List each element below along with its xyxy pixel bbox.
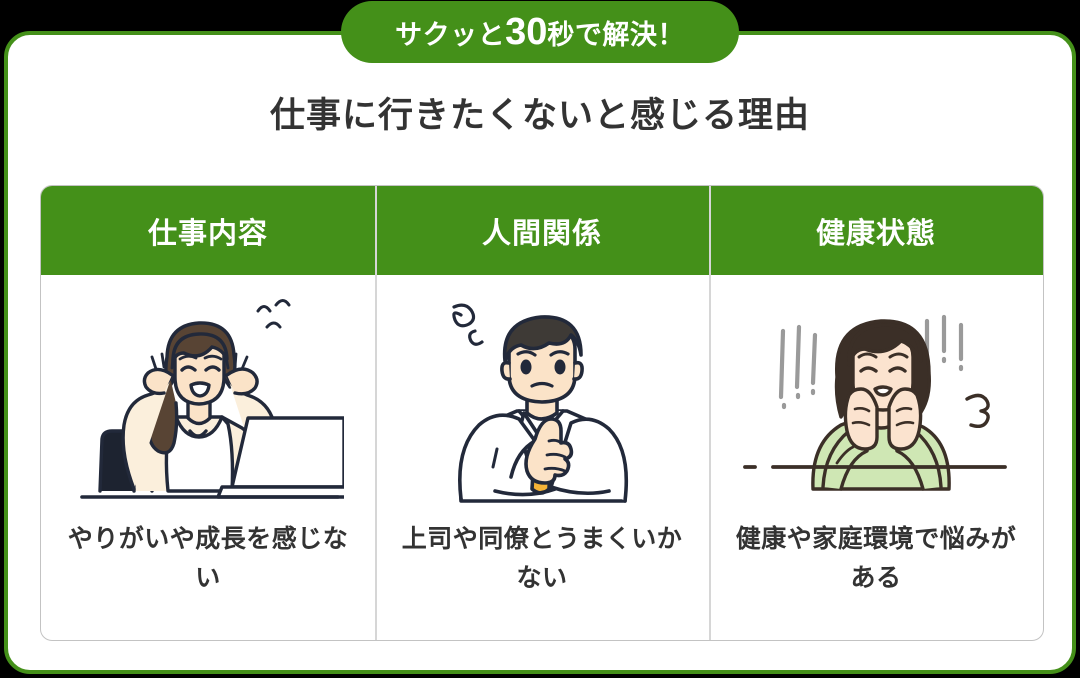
troubled-man-hand-on-chin-illustration: [393, 289, 691, 504]
badge-number: 30: [505, 13, 547, 51]
cell-caption-health: 健康や家庭環境で悩みがある: [731, 520, 1021, 598]
depressed-woman-resting-head-illustration: [727, 289, 1025, 504]
badge-label: サクッと30秒で解決！: [395, 13, 685, 51]
badge-suffix: 秒で解決！: [547, 22, 685, 49]
table-cell-health: 健康や家庭環境で悩みがある: [709, 275, 1043, 640]
table-cell-work-content: やりがいや成長を感じない: [41, 275, 375, 640]
table-header-cell-relationships: 人間関係: [375, 186, 709, 275]
table-cell-relationships: 上司や同僚とうまくいかない: [375, 275, 709, 640]
content-card: 仕事に行きたくないと感じる理由 仕事内容 人間関係 健康状態: [4, 31, 1076, 674]
page-title: 仕事に行きたくないと感じる理由: [8, 95, 1072, 137]
badge-prefix: サクッと: [395, 22, 505, 49]
table-header-cell-work-content: 仕事内容: [41, 186, 375, 275]
screenshot-root: 仕事に行きたくないと感じる理由 仕事内容 人間関係 健康状態: [0, 0, 1080, 678]
stressed-woman-at-laptop-illustration: [59, 289, 357, 504]
reasons-table: 仕事内容 人間関係 健康状態: [40, 185, 1044, 641]
badge-pill: サクッと30秒で解決！: [341, 1, 739, 63]
table-body-row: やりがいや成長を感じない: [41, 275, 1043, 640]
table-header-row: 仕事内容 人間関係 健康状態: [41, 186, 1043, 275]
cell-caption-relationships: 上司や同僚とうまくいかない: [397, 520, 687, 598]
cell-caption-work-content: やりがいや成長を感じない: [63, 520, 353, 598]
table-header-cell-health: 健康状態: [709, 186, 1043, 275]
